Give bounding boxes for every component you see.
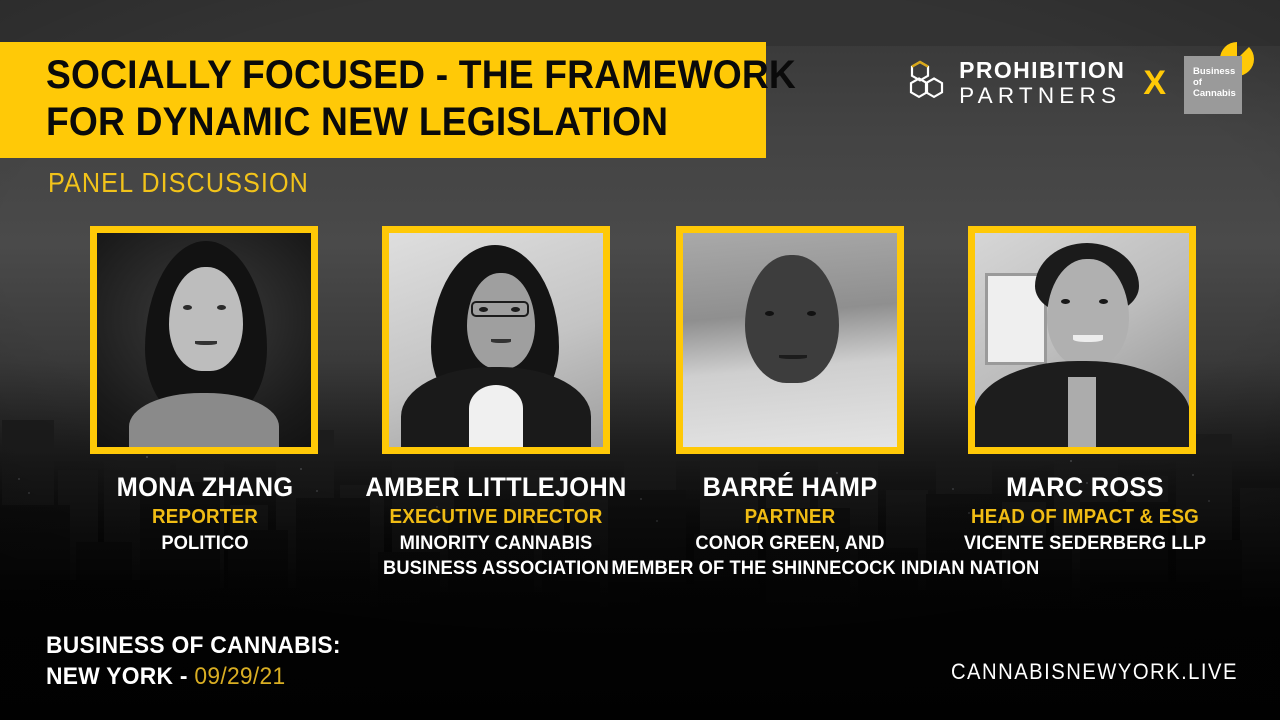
portrait-amber-littlejohn xyxy=(389,233,603,447)
portrait-barre-hamp xyxy=(683,233,897,447)
speaker-org-line-1: VICENTE SEDERBERG LLP xyxy=(935,531,1236,555)
presentation-slide: SOCIALLY FOCUSED - THE FRAMEWORK FOR DYN… xyxy=(0,0,1280,720)
speaker-photo-frame-1 xyxy=(90,226,318,454)
speaker-org-line-1: POLITICO xyxy=(50,531,360,555)
logo-lockup: PROHIBITION PARTNERS X Business of Canna… xyxy=(907,52,1246,114)
event-footer-line-2: NEW YORK - 09/29/21 xyxy=(46,661,341,692)
event-footer-line-1: BUSINESS OF CANNABIS: xyxy=(46,630,341,661)
title-line-1: SOCIALLY FOCUSED - THE FRAMEWORK xyxy=(46,52,716,99)
speaker-role: REPORTER xyxy=(50,504,360,530)
boc-line-3: Cannabis xyxy=(1193,88,1236,99)
speaker-photo-frame-3 xyxy=(676,226,904,454)
prohibition-partners-logo: PROHIBITION PARTNERS xyxy=(907,59,1125,108)
boc-line-2: of xyxy=(1193,77,1236,88)
speaker-name: MARC ROSS xyxy=(935,472,1236,503)
speaker-role: HEAD OF IMPACT & ESG xyxy=(935,504,1236,530)
speaker-card-3: BARRÉ HAMP PARTNER CONOR GREEN, AND MEMB… xyxy=(600,472,980,580)
event-footer: BUSINESS OF CANNABIS: NEW YORK - 09/29/2… xyxy=(46,630,356,692)
portrait-mona-zhang xyxy=(97,233,311,447)
speaker-name: MONA ZHANG xyxy=(50,472,360,503)
speaker-card-1: MONA ZHANG REPORTER POLITICO xyxy=(40,472,370,555)
business-of-cannabis-logo: Business of Cannabis xyxy=(1184,52,1246,114)
session-type-subtitle: PANEL DISCUSSION xyxy=(48,168,309,198)
speaker-card-4: MARC ROSS HEAD OF IMPACT & ESG VICENTE S… xyxy=(925,472,1245,555)
title-banner: SOCIALLY FOCUSED - THE FRAMEWORK FOR DYN… xyxy=(0,42,766,158)
event-date: 09/29/21 xyxy=(194,663,285,690)
boc-wordmark: Business of Cannabis xyxy=(1193,66,1236,99)
prohibition-wordmark-bottom: PARTNERS xyxy=(959,85,1125,108)
speaker-org-line-1: CONOR GREEN, AND xyxy=(611,531,968,555)
collaboration-x-icon: X xyxy=(1139,66,1170,100)
title-line-2: FOR DYNAMIC NEW LEGISLATION xyxy=(46,99,716,146)
speaker-photo-row xyxy=(0,226,1280,466)
event-footer-city: NEW YORK - xyxy=(46,663,194,690)
speaker-photo-frame-4 xyxy=(968,226,1196,454)
speaker-photo-frame-2 xyxy=(382,226,610,454)
speaker-org-line-2: MEMBER OF THE SHINNECOCK INDIAN NATION xyxy=(611,556,968,580)
prohibition-wordmark-top: PROHIBITION xyxy=(959,59,1125,82)
speaker-name: BARRÉ HAMP xyxy=(611,472,968,503)
speaker-role: PARTNER xyxy=(611,504,968,530)
boc-line-1: Business xyxy=(1193,66,1236,77)
hexagon-cluster-icon xyxy=(907,59,951,108)
event-website: CANNABISNEWYORK.LIVE xyxy=(951,660,1238,684)
portrait-marc-ross xyxy=(975,233,1189,447)
